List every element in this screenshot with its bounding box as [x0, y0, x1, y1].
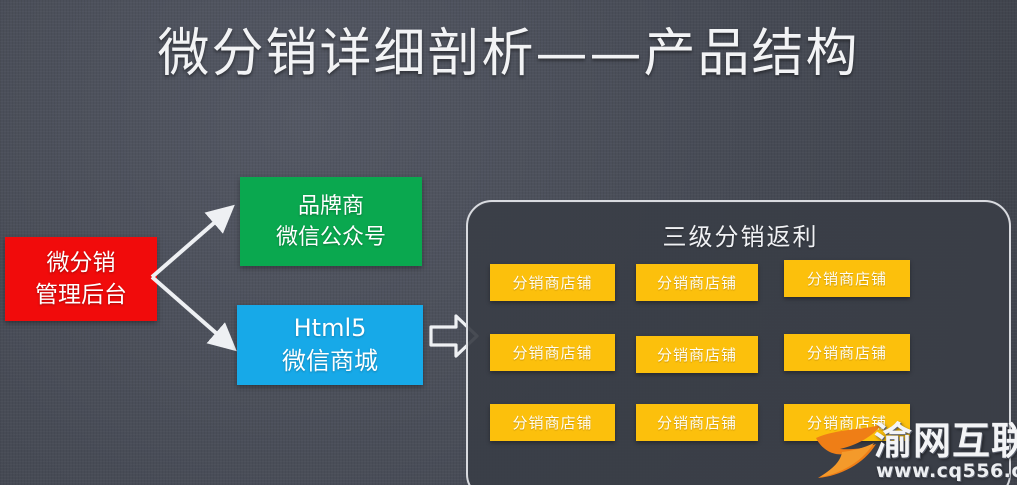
shop-chip[interactable]: 分销商店铺 [636, 336, 758, 373]
admin-box-line2: 管理后台 [35, 279, 127, 311]
shop-chip[interactable]: 分销商店铺 [490, 264, 615, 301]
shop-chip[interactable]: 分销商店铺 [636, 404, 758, 441]
watermark-brand: 渝网互联 [874, 420, 1017, 462]
rebate-panel-title: 三级分销返利 [468, 222, 1013, 252]
admin-box-line1: 微分销 [47, 247, 116, 279]
admin-box[interactable]: 微分销 管理后台 [5, 237, 157, 321]
html5-mall-line1: Html5 [294, 312, 367, 345]
shop-chip[interactable]: 分销商店铺 [490, 334, 615, 371]
watermark-url: www.cq556.com [876, 460, 1017, 482]
html5-mall-line2: 微信商城 [282, 345, 378, 378]
shop-chip[interactable]: 分销商店铺 [784, 260, 910, 297]
html5-mall-box[interactable]: Html5 微信商城 [237, 305, 423, 385]
brand-wechat-box[interactable]: 品牌商 微信公众号 [240, 177, 422, 266]
slide-canvas: 微分销详细剖析——产品结构 微分销 管理后台 品牌商 微信公众号 Html5 微… [0, 0, 1017, 485]
brand-wechat-line1: 品牌商 [298, 191, 364, 222]
branching-arrows-icon [150, 185, 250, 370]
watermark: 渝网互联 www.cq556.com [812, 418, 1017, 485]
page-title: 微分销详细剖析——产品结构 [0, 24, 1017, 84]
shop-chip[interactable]: 分销商店铺 [784, 334, 910, 371]
shop-chip[interactable]: 分销商店铺 [490, 404, 615, 441]
brand-wechat-line2: 微信公众号 [276, 222, 386, 253]
shop-chip[interactable]: 分销商店铺 [636, 264, 758, 301]
